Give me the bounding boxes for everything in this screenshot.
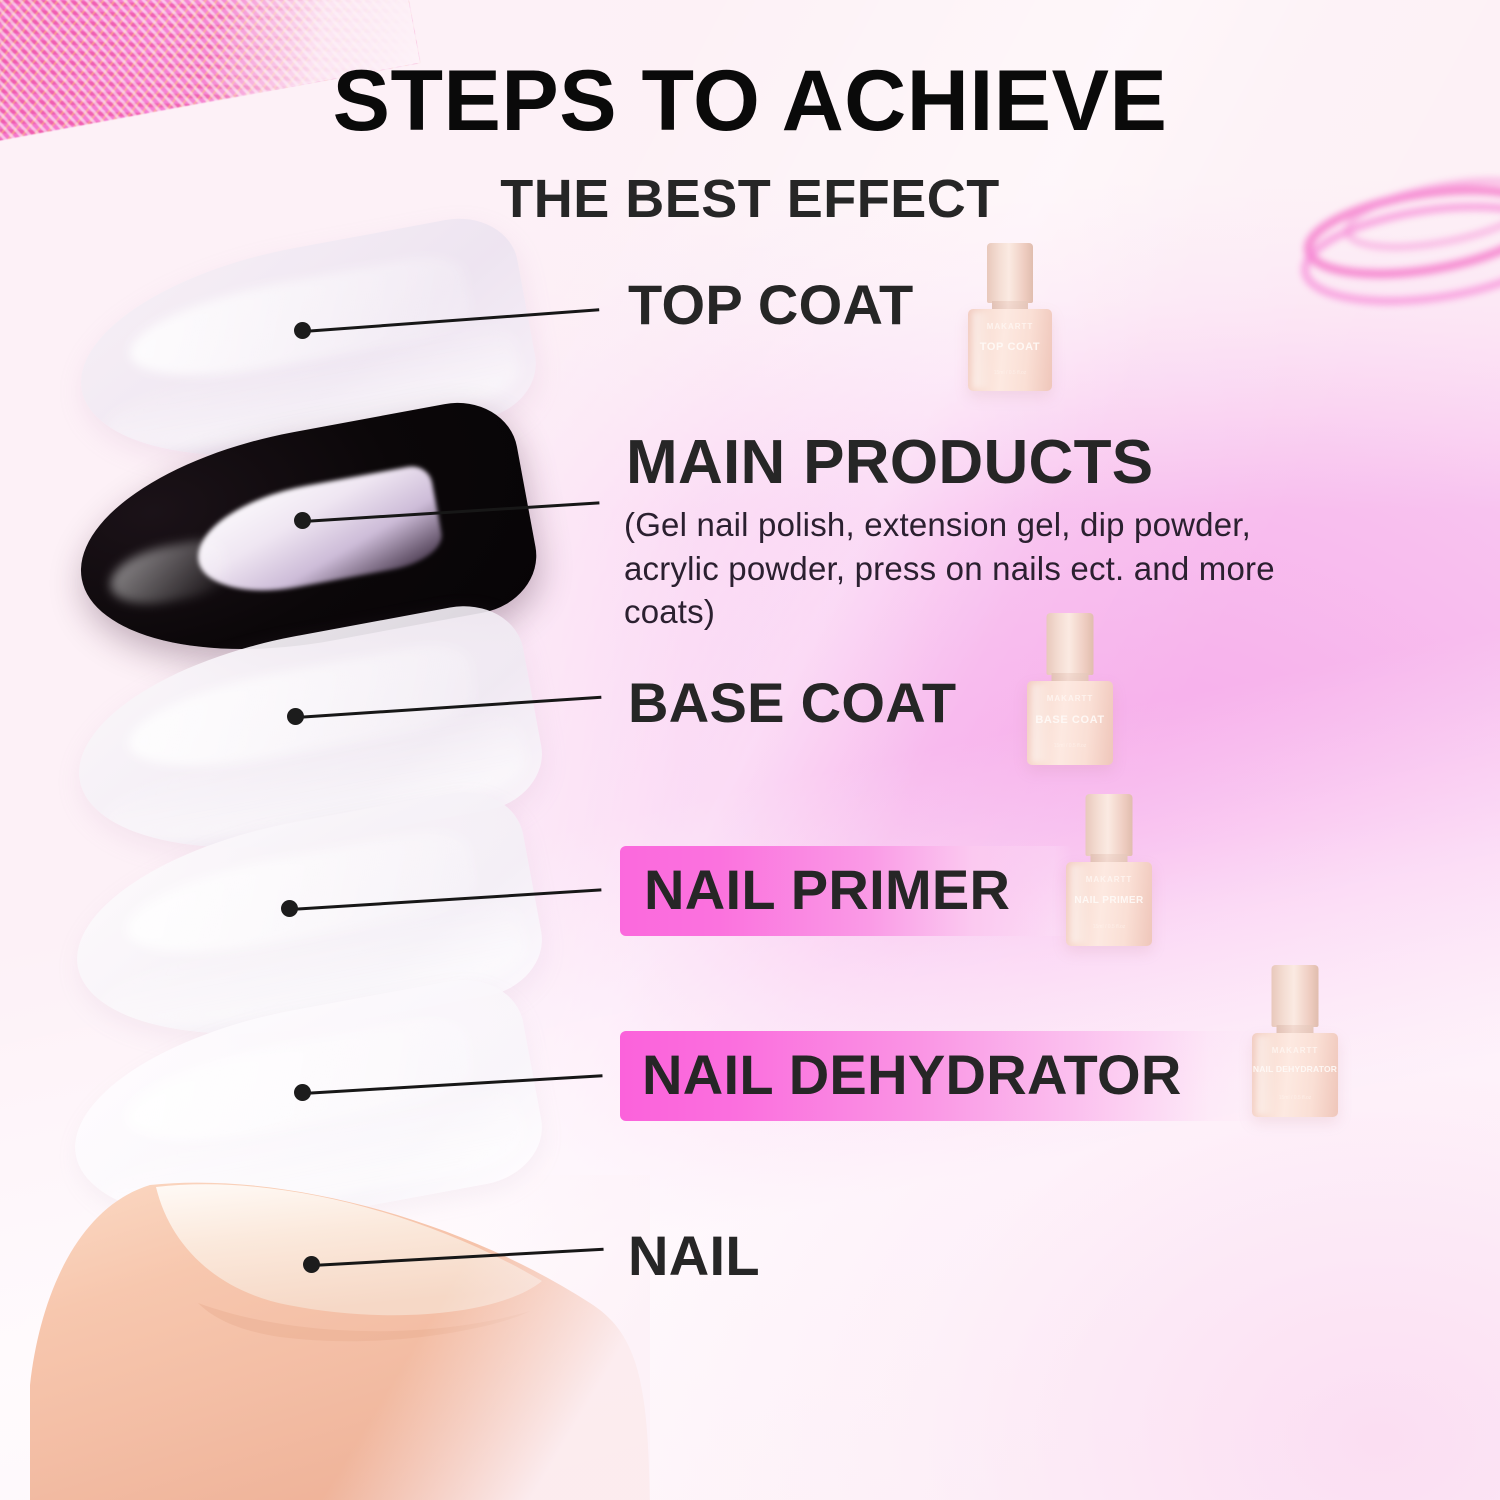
bottle-volume-text: 15ml / 0.5 fl.oz [1066, 924, 1152, 930]
page-title: STEPS TO ACHIEVE [0, 58, 1500, 144]
nail-chip-edge-glint [105, 536, 231, 612]
bottle-glass-body: MAKARTT NAIL DEHYDRATOR 15ml / 0.5 fl.oz [1252, 1033, 1338, 1117]
step-label-nail-dehydrator[interactable]: NAIL DEHYDRATOR [642, 1047, 1182, 1103]
bottle-volume-text: 15ml / 0.5 fl.oz [968, 370, 1052, 376]
bottle-product-text: NAIL DEHYDRATOR [1252, 1065, 1338, 1074]
bottle-glass-body: MAKARTT BASE COAT 15ml / 0.5 fl.oz [1027, 681, 1113, 765]
bottle-cap-icon [1047, 613, 1094, 675]
bottle-cap-icon [1086, 794, 1133, 856]
nail-chip-highlight-streak [188, 463, 446, 603]
bottle-brand-text: MAKARTT [1252, 1046, 1338, 1055]
bottle-product-text: TOP COAT [968, 342, 1052, 354]
step-label-top-coat[interactable]: TOP COAT [628, 277, 914, 333]
bottle-brand-text: MAKARTT [1066, 875, 1152, 884]
leader-dot-base-coat [287, 708, 304, 725]
finger-edge-fade [30, 1175, 650, 1500]
step-label-main-products[interactable]: MAIN PRODUCTS [626, 432, 1153, 494]
finger-with-natural-nail [30, 1175, 650, 1500]
bottle-top-coat[interactable]: MAKARTT TOP COAT 15ml / 0.5 fl.oz [968, 243, 1052, 391]
bottle-glass-body: MAKARTT NAIL PRIMER 15ml / 0.5 fl.oz [1066, 862, 1152, 946]
bottle-brand-text: MAKARTT [968, 322, 1052, 331]
leader-dot-nail-primer [281, 900, 298, 917]
step-label-nail[interactable]: NAIL [628, 1228, 760, 1284]
bottle-nail-dehydrator[interactable]: MAKARTT NAIL DEHYDRATOR 15ml / 0.5 fl.oz [1252, 965, 1338, 1117]
page-subtitle: THE BEST EFFECT [0, 172, 1500, 226]
bottle-volume-text: 15ml / 0.5 fl.oz [1252, 1095, 1338, 1101]
leader-dot-top-coat [294, 322, 311, 339]
leader-dot-nail-dehydrator [294, 1084, 311, 1101]
bottle-cap-icon [1272, 965, 1319, 1027]
bottle-product-text: BASE COAT [1027, 715, 1113, 727]
leader-dot-main-products [294, 512, 311, 529]
infographic-canvas: STEPS TO ACHIEVE THE BEST EFFECT [0, 0, 1500, 1500]
step-label-nail-primer[interactable]: NAIL PRIMER [644, 862, 1010, 918]
leader-dot-nail [303, 1256, 320, 1273]
step-label-base-coat[interactable]: BASE COAT [628, 675, 956, 731]
bottle-brand-text: MAKARTT [1027, 694, 1113, 703]
step-note-main-products: (Gel nail polish, extension gel, dip pow… [624, 503, 1314, 634]
bottle-product-text: NAIL PRIMER [1066, 896, 1152, 907]
bottle-nail-primer[interactable]: MAKARTT NAIL PRIMER 15ml / 0.5 fl.oz [1066, 794, 1152, 946]
bottle-volume-text: 15ml / 0.5 fl.oz [1027, 743, 1113, 749]
bottle-cap-icon [987, 243, 1033, 303]
bottle-glass-body: MAKARTT TOP COAT 15ml / 0.5 fl.oz [968, 309, 1052, 391]
bottle-base-coat[interactable]: MAKARTT BASE COAT 15ml / 0.5 fl.oz [1027, 613, 1113, 765]
